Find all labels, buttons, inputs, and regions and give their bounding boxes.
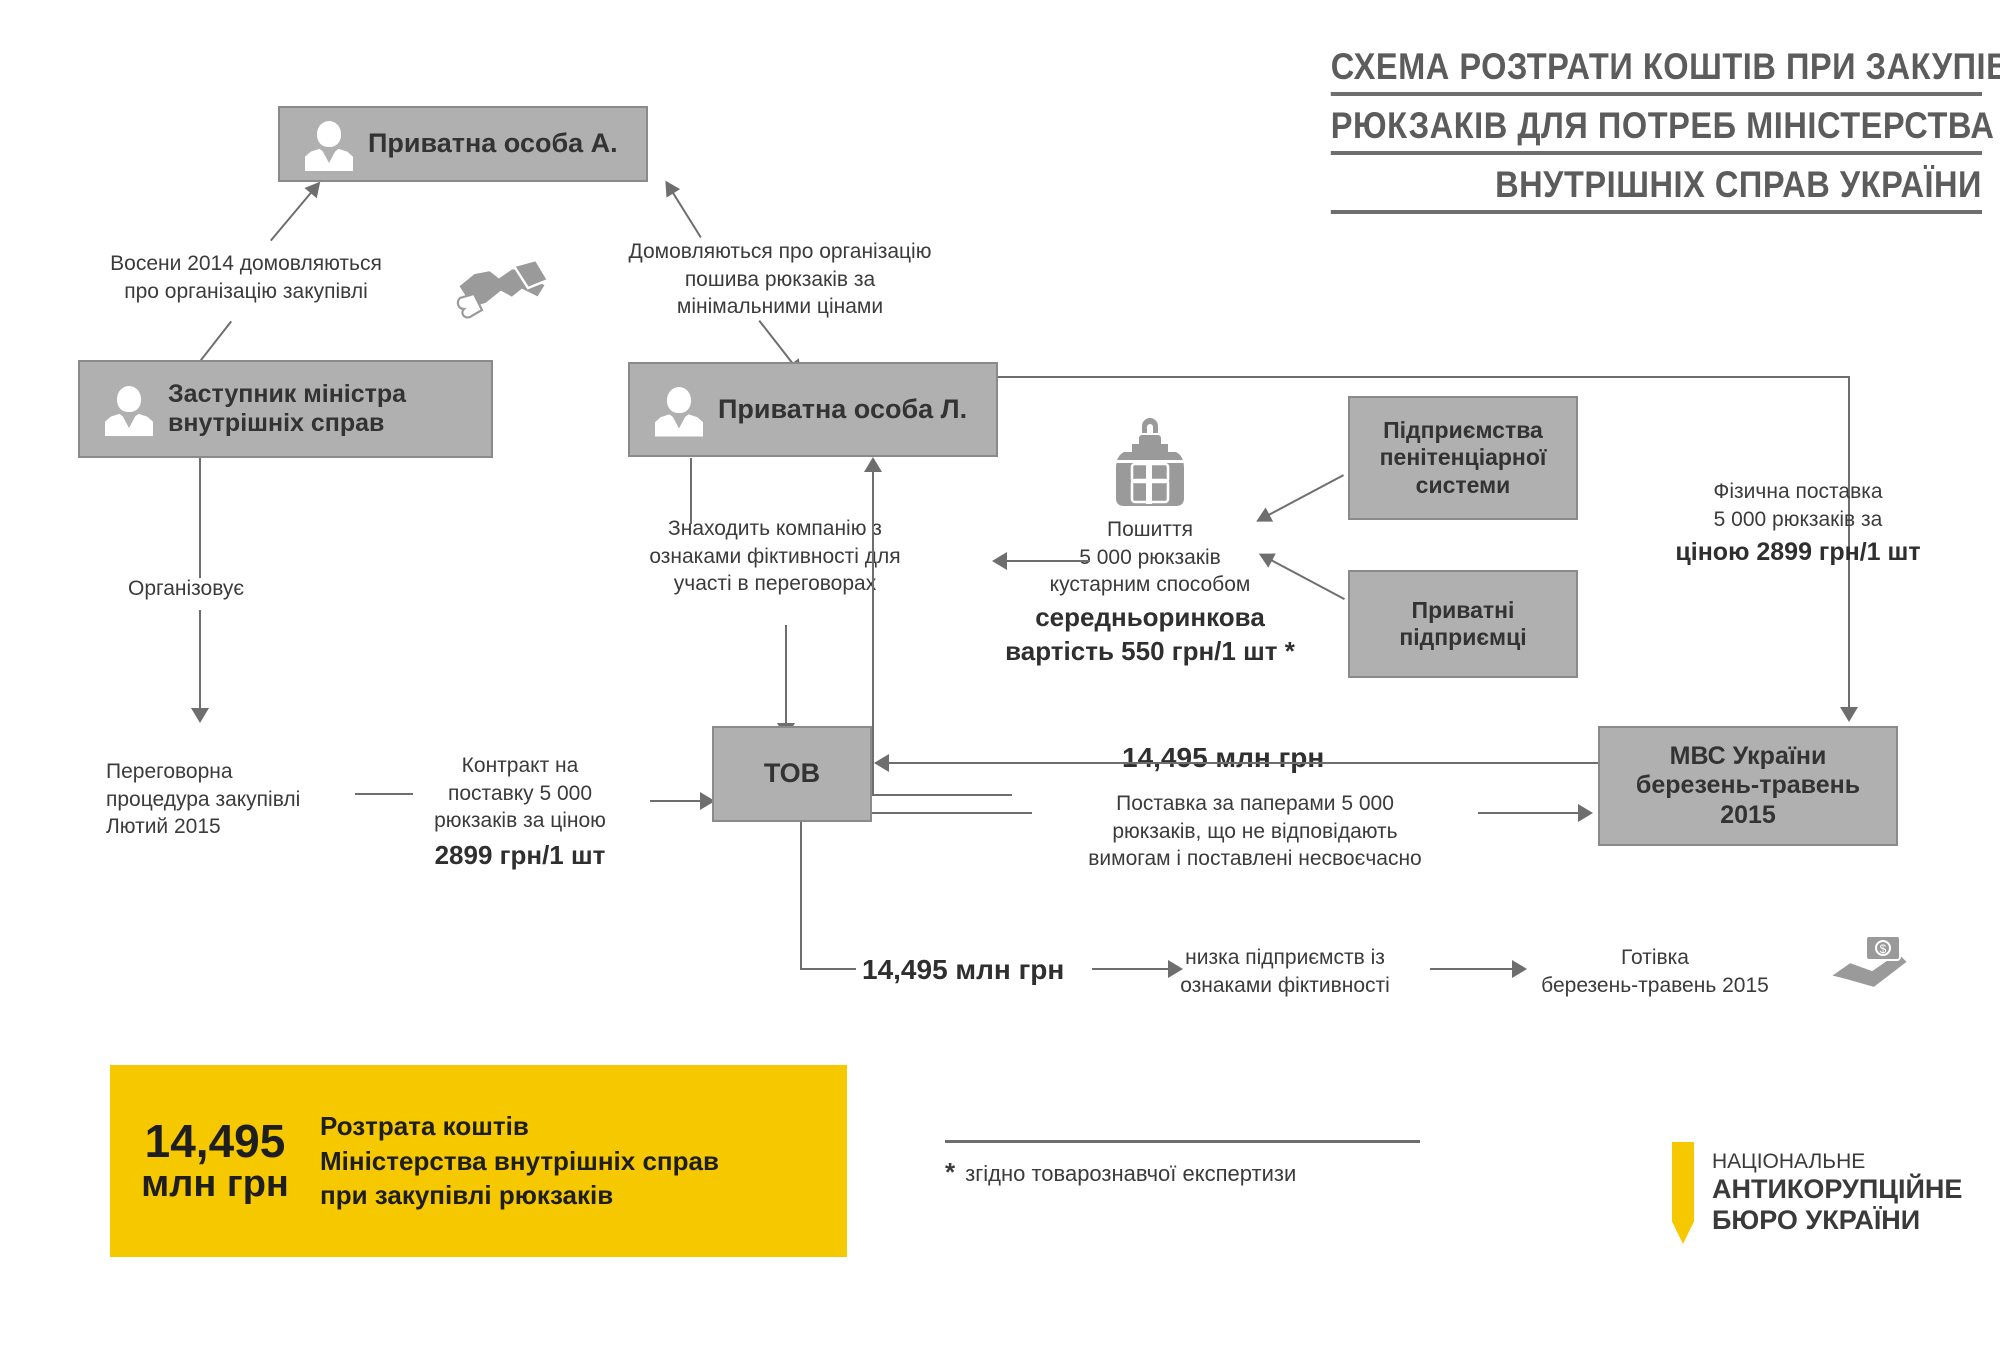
arrow-paper-to-mvs: [1578, 804, 1593, 822]
label-agree-sewing: Домовляються про організацію пошива рюкз…: [610, 238, 950, 321]
title-line-1: СХЕМА РОЗТРАТИ КОШТІВ ПРИ ЗАКУПІВЛІ: [1331, 46, 1982, 96]
arrow-to-negotiation: [191, 708, 209, 723]
footnote-text: *згідно товарознавчої експертизи: [945, 1157, 1425, 1188]
node-private-person-a[interactable]: Приватна особа А.: [278, 106, 648, 182]
arrow-to-mvs-top: [1840, 707, 1858, 722]
nabu-logo: НАЦІОНАЛЬНЕ АНТИКОРУПЦІЙНЕ БЮРО УКРАЇНИ: [1672, 1142, 1962, 1244]
person-icon: [652, 383, 706, 437]
arrow-money-to-tov: [874, 754, 889, 772]
label-shell-companies: низка підприємств із ознаками фіктивност…: [1155, 944, 1415, 999]
label-finds-company: Знаходить компанію з ознаками фіктивност…: [630, 515, 920, 598]
connector-person-l-to-sewing: [998, 560, 1090, 562]
banner-description: Розтрата коштів Міністерства внутрішніх …: [320, 1109, 719, 1213]
label-amount-bottom: 14,495 млн грн: [862, 952, 1064, 989]
node-deputy-minister[interactable]: Заступник міністра внутрішніх справ: [78, 360, 493, 458]
backpack-icon: [1112, 418, 1188, 510]
connector-tov-down: [800, 822, 802, 970]
summary-banner: 14,495 млн грн Розтрата коштів Міністерс…: [110, 1065, 847, 1257]
connector-contract-tov: [650, 800, 702, 802]
label-autumn-2014: Восени 2014 домовляються про організацію…: [96, 250, 396, 305]
node-penitentiary-enterprises[interactable]: Підприємства пенітенціарної системи: [1348, 396, 1578, 520]
node-label: Підприємства пенітенціарної системи: [1380, 417, 1547, 498]
connector-person-l-to-tov: [785, 625, 787, 725]
node-mvs-ukraine[interactable]: МВС України березень-травень 2015: [1598, 726, 1898, 846]
connector-person-l-right: [998, 376, 1850, 378]
connector-shell-to-cash: [1430, 968, 1518, 970]
node-label: Приватна особа А.: [368, 128, 618, 160]
label-paper-delivery: Поставка за паперами 5 000 рюкзаків, що …: [1045, 790, 1465, 873]
title-line-2: РЮКЗАКІВ ДЛЯ ПОТРЕБ МІНІСТЕРСТВА: [1331, 105, 1982, 155]
arrow-to-person-l-sewing: [992, 552, 1007, 570]
footnote: *згідно товарознавчої експертизи: [945, 1140, 1425, 1188]
person-icon: [302, 117, 356, 171]
label-sewing: Пошиття 5 000 рюкзаків кустарним способо…: [1020, 516, 1280, 599]
label-physical-delivery: Фізична поставка 5 000 рюкзаків за ціною…: [1648, 478, 1948, 569]
label-cash: Готівка березень-травень 2015: [1510, 944, 1800, 999]
node-label: Заступник міністра внутрішніх справ: [168, 380, 406, 439]
footnote-rule: [945, 1140, 1420, 1143]
label-amount-top: 14,495 млн грн: [1122, 740, 1324, 777]
node-label: ТОВ: [764, 758, 820, 790]
node-private-person-l[interactable]: Приватна особа Л.: [628, 362, 998, 457]
page-title: СХЕМА РОЗТРАТИ КОШТІВ ПРИ ЗАКУПІВЛІ РЮКЗ…: [1242, 46, 1982, 223]
person-icon: [102, 382, 156, 436]
logo-mark-icon: [1672, 1142, 1694, 1244]
node-private-entrepreneurs[interactable]: Приватні підприємці: [1348, 570, 1578, 678]
svg-text:$: $: [1880, 942, 1887, 956]
connector-tov-up-stem-2: [872, 470, 874, 604]
node-label: Приватні підприємці: [1399, 597, 1526, 651]
node-tov[interactable]: ТОВ: [712, 726, 872, 822]
connector-deputy-organizes-top: [199, 458, 201, 578]
handshake-icon: [452, 246, 552, 320]
logo-line-3: БЮРО УКРАЇНИ: [1712, 1205, 1962, 1236]
node-label: МВС України березень-травень 2015: [1636, 742, 1860, 831]
title-line-3: ВНУТРІШНІХ СПРАВ УКРАЇНИ: [1331, 164, 1982, 214]
label-contract: Контракт на поставку 5 000 рюкзаків за ц…: [400, 752, 640, 872]
connector-tov-to-mvs-paper-right: [1478, 812, 1582, 814]
connector-tov-down-right: [800, 968, 856, 970]
label-negotiation-procedure: Переговорна процедура закупівлі Лютий 20…: [106, 758, 356, 841]
connector-tov-to-mvs-paper-left: [872, 812, 1032, 814]
logo-text: НАЦІОНАЛЬНЕ АНТИКОРУПЦІЙНЕ БЮРО УКРАЇНИ: [1712, 1150, 1962, 1237]
label-organizes: Організовує: [128, 575, 244, 603]
connector-tov-up-base: [872, 794, 1012, 796]
banner-amount: 14,495 млн грн: [110, 1117, 320, 1205]
label-sewing-market-price: середньоринкова вартість 550 грн/1 шт *: [960, 600, 1340, 669]
connector-mvs-to-tov-money: [888, 762, 1598, 764]
connector-deputy-organizes-bottom: [199, 610, 201, 710]
cash-icon: $: [1828, 932, 1910, 994]
node-label: Приватна особа Л.: [718, 394, 967, 426]
